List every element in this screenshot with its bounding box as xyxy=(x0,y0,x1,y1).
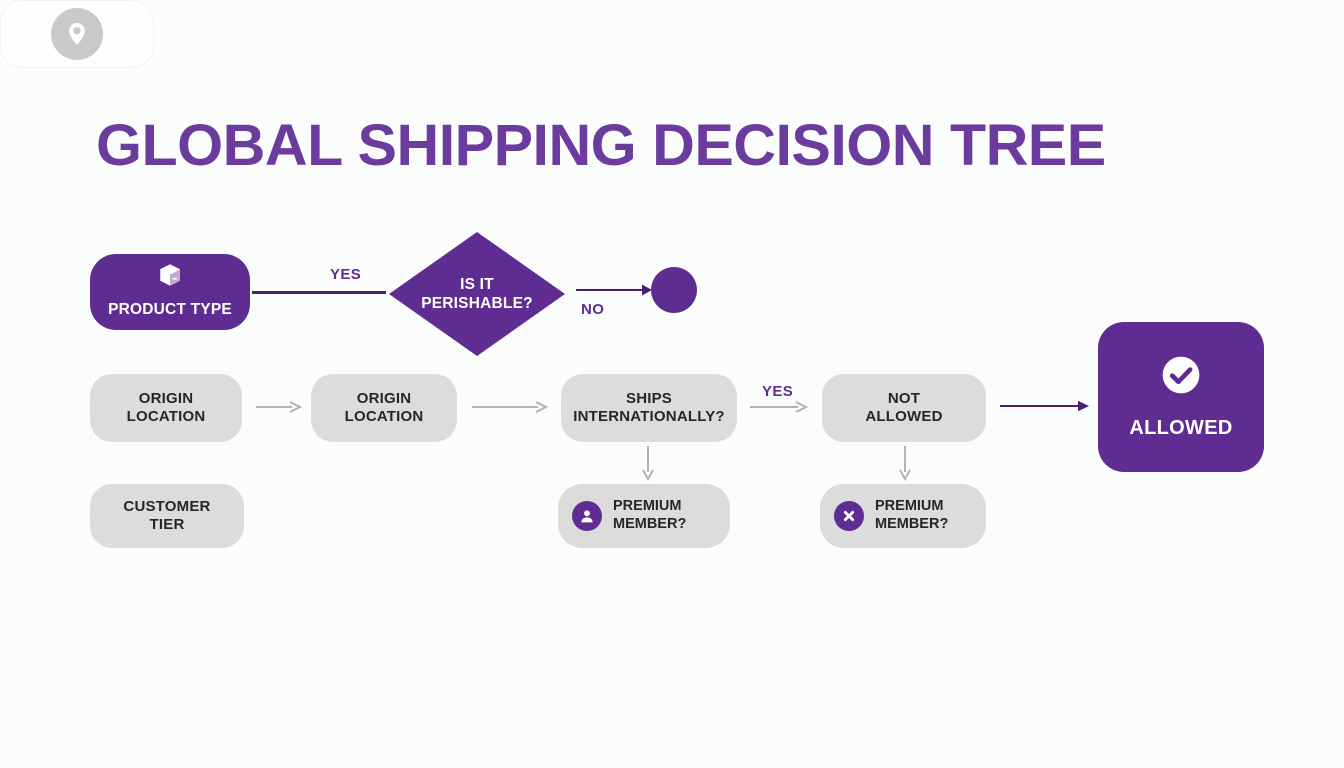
node-label: PRODUCT TYPE xyxy=(108,301,232,320)
node-label-line2: PERISHABLE? xyxy=(421,294,533,313)
map-pin-icon xyxy=(51,8,103,60)
node-label-line2: MEMBER? xyxy=(613,516,686,532)
edge-label-yes-perishable: YES xyxy=(330,266,361,283)
edge-origin2-to-ships xyxy=(472,399,552,417)
node-label-line1: NOT xyxy=(888,390,920,408)
node-label-line2: INTERNATIONALLY? xyxy=(573,408,725,426)
node-label-line1: SHIPS xyxy=(626,390,672,408)
x-circle-icon xyxy=(834,501,864,531)
user-icon xyxy=(572,501,602,531)
edge-ships-to-notallowed xyxy=(750,399,812,417)
node-origin-location-1[interactable]: ORIGIN LOCATION xyxy=(90,374,242,442)
node-label: PREMIUM MEMBER? xyxy=(875,498,948,533)
node-location-pin[interactable] xyxy=(0,0,154,68)
node-label-line2: MEMBER? xyxy=(875,516,948,532)
box-icon xyxy=(157,262,183,294)
node-label: ALLOWED xyxy=(1129,416,1232,440)
node-label-line1: ORIGIN xyxy=(357,390,412,408)
edge-label-yes-notallowed: YES xyxy=(762,383,793,400)
node-ships-internationally[interactable]: SHIPS INTERNATIONALLY? xyxy=(561,374,737,442)
node-origin-location-2[interactable]: ORIGIN LOCATION xyxy=(311,374,457,442)
edge-origin1-to-origin2 xyxy=(256,399,304,417)
node-label-line1: CUSTOMER xyxy=(123,498,210,516)
edge-product-to-perishable xyxy=(252,291,386,294)
node-not-allowed[interactable]: NOT ALLOWED xyxy=(822,374,986,442)
node-label: IS IT PERISHABLE? xyxy=(389,232,565,356)
check-circle-icon xyxy=(1160,354,1202,402)
edge-notallowed-to-allowed xyxy=(1000,398,1092,416)
node-end-circle[interactable] xyxy=(651,267,697,313)
node-label-line1: PREMIUM xyxy=(613,498,681,514)
edge-perishable-to-circle xyxy=(576,282,656,300)
node-customer-tier[interactable]: CUSTOMER TIER xyxy=(90,484,244,548)
node-premium-member-1[interactable]: PREMIUM MEMBER? xyxy=(558,484,730,548)
node-product-type[interactable]: PRODUCT TYPE xyxy=(90,254,250,330)
page-title: GLOBAL SHIPPING DECISION TREE xyxy=(96,112,1106,179)
node-label-line2: ALLOWED xyxy=(865,408,942,426)
edge-notallowed-to-premium2 xyxy=(897,446,915,482)
node-label-line1: ORIGIN xyxy=(139,390,194,408)
node-label-line2: LOCATION xyxy=(127,408,206,426)
node-label: PREMIUM MEMBER? xyxy=(613,498,686,533)
edge-label-no: NO xyxy=(581,301,604,318)
node-is-it-perishable[interactable]: IS IT PERISHABLE? xyxy=(389,232,565,356)
edge-ships-to-premium1 xyxy=(640,446,658,482)
node-label-line1: IS IT xyxy=(460,275,494,294)
node-label-line2: TIER xyxy=(150,516,185,534)
node-label-line2: LOCATION xyxy=(345,408,424,426)
node-allowed[interactable]: ALLOWED xyxy=(1098,322,1264,472)
diagram-canvas: GLOBAL SHIPPING DECISION TREE PRODUCT TY… xyxy=(0,0,1344,768)
node-label-line1: PREMIUM xyxy=(875,498,943,514)
node-premium-member-2[interactable]: PREMIUM MEMBER? xyxy=(820,484,986,548)
